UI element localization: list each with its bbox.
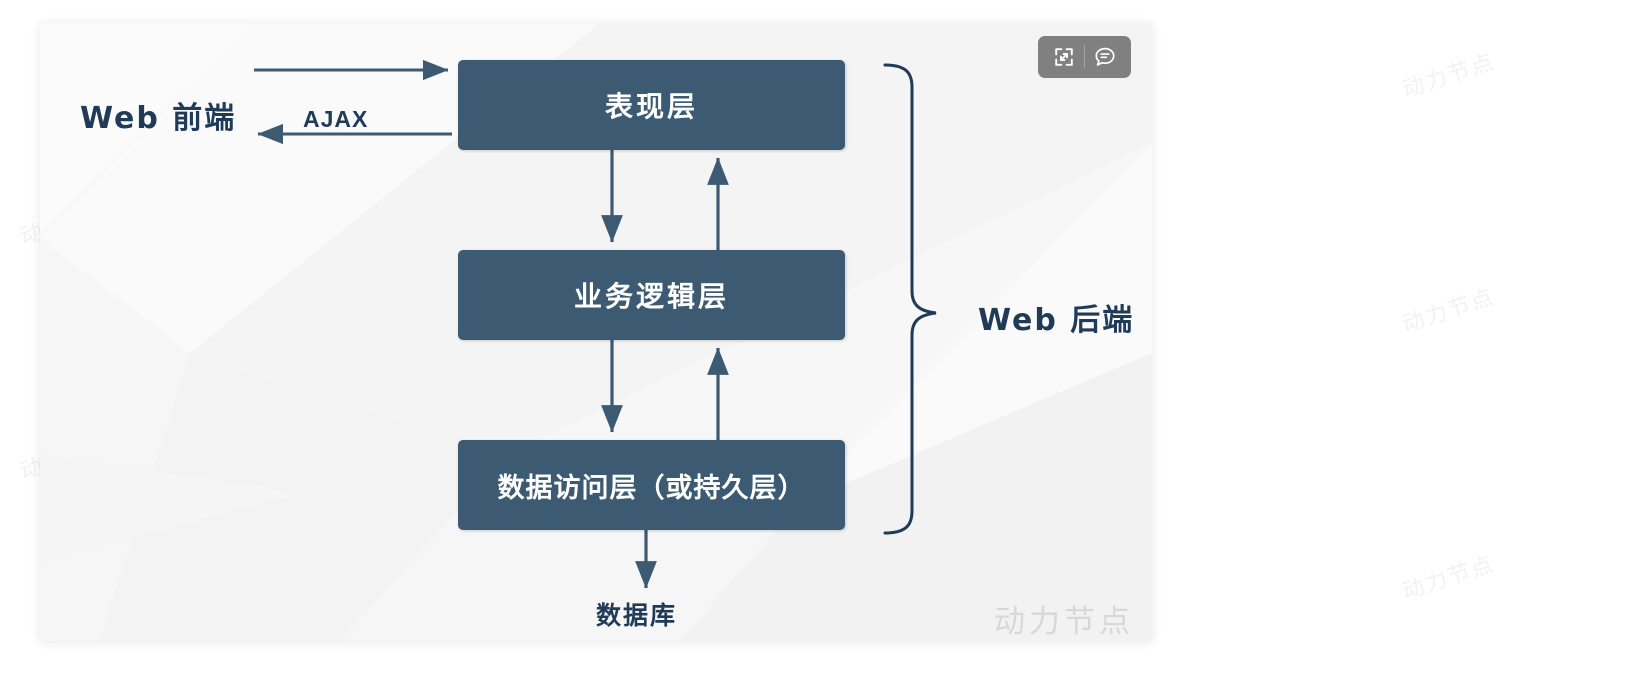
diagram-panel: 表现层 业务逻辑层 数据访问层（或持久层） Web 前端 Web 后端 AJAX… bbox=[40, 23, 1152, 641]
label-web-backend: Web 后端 bbox=[978, 295, 1134, 339]
label-database: 数据库 bbox=[596, 596, 677, 632]
fullscreen-icon bbox=[1054, 47, 1074, 67]
label-ajax-protocol: AJAX bbox=[303, 106, 368, 133]
layer-box-data-access[interactable]: 数据访问层（或持久层） bbox=[458, 440, 845, 530]
page-watermark: 动力节点 bbox=[1397, 44, 1498, 104]
panel-watermark: 动力节点 bbox=[994, 596, 1134, 641]
layer-box-presentation[interactable]: 表现层 bbox=[458, 60, 845, 150]
fullscreen-button[interactable] bbox=[1044, 37, 1084, 77]
layer-box-label: 数据访问层（或持久层） bbox=[498, 466, 806, 505]
layer-box-label: 表现层 bbox=[605, 85, 698, 125]
comment-icon bbox=[1094, 46, 1116, 68]
label-web-frontend: Web 前端 bbox=[80, 93, 236, 137]
layer-box-label: 业务逻辑层 bbox=[574, 275, 729, 315]
diagram-toolbar bbox=[1038, 36, 1131, 78]
layer-box-business[interactable]: 业务逻辑层 bbox=[458, 250, 845, 340]
page-watermark: 动力节点 bbox=[1397, 546, 1498, 606]
page-watermark: 动力节点 bbox=[1397, 279, 1498, 339]
comment-button[interactable] bbox=[1085, 37, 1125, 77]
